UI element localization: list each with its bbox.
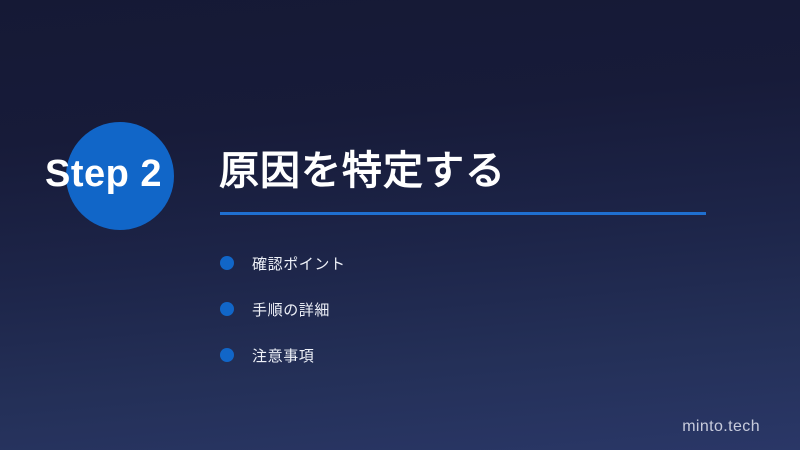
footer-watermark: minto.tech [682,418,760,436]
bullet-dot-icon [220,256,234,270]
bullet-item-label: 確認ポイント [252,253,346,274]
step-badge-label: Step 2 [45,152,162,196]
bullet-list: 確認ポイント 手順の詳細 注意事項 [220,240,700,378]
slide-canvas: Step 2 原因を特定する 確認ポイント 手順の詳細 注意事項 minto.t… [0,0,800,450]
title-divider [220,212,706,215]
bullet-item-label: 手順の詳細 [252,299,330,320]
list-item: 手順の詳細 [220,286,700,332]
bullet-dot-icon [220,348,234,362]
list-item: 確認ポイント [220,240,700,286]
bullet-dot-icon [220,302,234,316]
slide-title: 原因を特定する [219,146,506,196]
list-item: 注意事項 [220,332,700,378]
bullet-item-label: 注意事項 [252,345,314,366]
